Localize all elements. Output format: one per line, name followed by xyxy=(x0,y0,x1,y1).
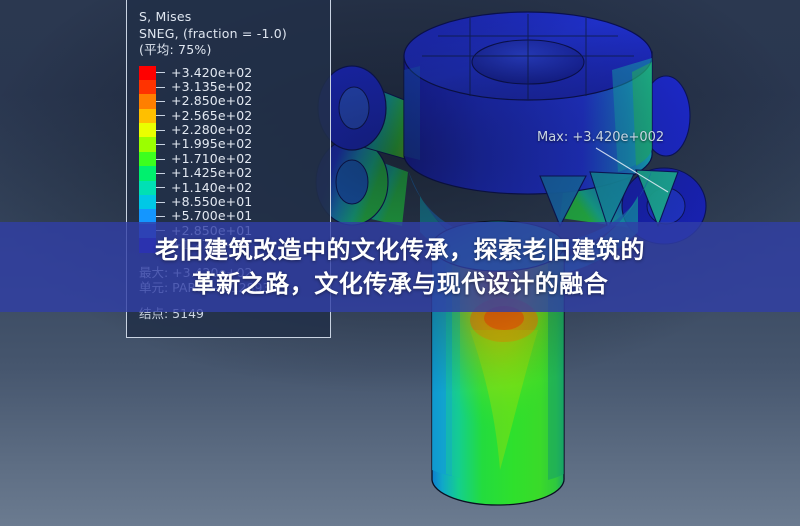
legend-band-value: +2.280e+02 xyxy=(171,123,252,137)
legend-band-value: +1.140e+02 xyxy=(171,181,252,195)
legend-band-value: +2.565e+02 xyxy=(171,109,252,123)
legend-band-row: +2.280e+02 xyxy=(139,123,330,137)
legend-band-row: +1.425e+02 xyxy=(139,166,330,180)
overlay-title-line-1: 老旧建筑改造中的文化传承，探索老旧建筑的 xyxy=(155,233,645,267)
legend-tick-mark xyxy=(156,173,165,174)
legend-tick-mark xyxy=(156,72,165,73)
legend-band-value: +2.850e+02 xyxy=(171,94,252,108)
legend-band-value: +1.995e+02 xyxy=(171,137,252,151)
legend-band-row: +3.135e+02 xyxy=(139,80,330,94)
legend-band-row: +2.850e+02 xyxy=(139,94,330,108)
legend-tick-mark xyxy=(156,130,165,131)
legend-band-row: +1.995e+02 xyxy=(139,137,330,151)
title-overlay-band: 老旧建筑改造中的文化传承，探索老旧建筑的 革新之路，文化传承与现代设计的融合 xyxy=(0,222,800,312)
legend-tick-mark xyxy=(156,101,165,102)
legend-band-row: +1.710e+02 xyxy=(139,152,330,166)
legend-color-swatch xyxy=(139,66,156,80)
legend-color-swatch xyxy=(139,94,156,108)
legend-tick-mark xyxy=(156,159,165,160)
legend-tick-mark xyxy=(156,144,165,145)
legend-tick-mark xyxy=(156,87,165,88)
legend-band-value: +8.550e+01 xyxy=(171,195,252,209)
legend-color-swatch xyxy=(139,109,156,123)
legend-color-swatch xyxy=(139,166,156,180)
max-annotation-label: Max: +3.420e+002 xyxy=(537,130,664,145)
legend-band-row: +3.420e+02 xyxy=(139,66,330,80)
legend-subtitle: SNEG, (fraction = -1.0) xyxy=(139,26,330,43)
legend-color-swatch xyxy=(139,123,156,137)
legend-band-value: +3.420e+02 xyxy=(171,66,252,80)
legend-tick-mark xyxy=(156,216,165,217)
screenshot-root: Max: +3.420e+002 S, Mises SNEG, (fractio… xyxy=(0,0,800,526)
legend-band-value: +1.425e+02 xyxy=(171,166,252,180)
legend-band-value: +1.710e+02 xyxy=(171,152,252,166)
legend-band-row: +8.550e+01 xyxy=(139,195,330,209)
gusset-ribs xyxy=(540,170,678,228)
legend-band-row: +1.140e+02 xyxy=(139,181,330,195)
central-hub xyxy=(404,12,652,194)
legend-band-value: +3.135e+02 xyxy=(171,80,252,94)
legend-color-swatch xyxy=(139,80,156,94)
legend-average: (平均: 75%) xyxy=(139,42,330,59)
legend-tick-mark xyxy=(156,187,165,188)
max-stress-annotation: Max: +3.420e+002 xyxy=(537,130,664,145)
legend-band-row: +2.565e+02 xyxy=(139,109,330,123)
overlay-title-line-2: 革新之路，文化传承与现代设计的融合 xyxy=(192,267,609,301)
legend-color-swatch xyxy=(139,152,156,166)
legend-title: S, Mises xyxy=(139,9,330,26)
legend-color-swatch xyxy=(139,137,156,151)
legend-tick-mark xyxy=(156,115,165,116)
legend-color-swatch xyxy=(139,195,156,209)
legend-tick-mark xyxy=(156,202,165,203)
legend-color-swatch xyxy=(139,181,156,195)
